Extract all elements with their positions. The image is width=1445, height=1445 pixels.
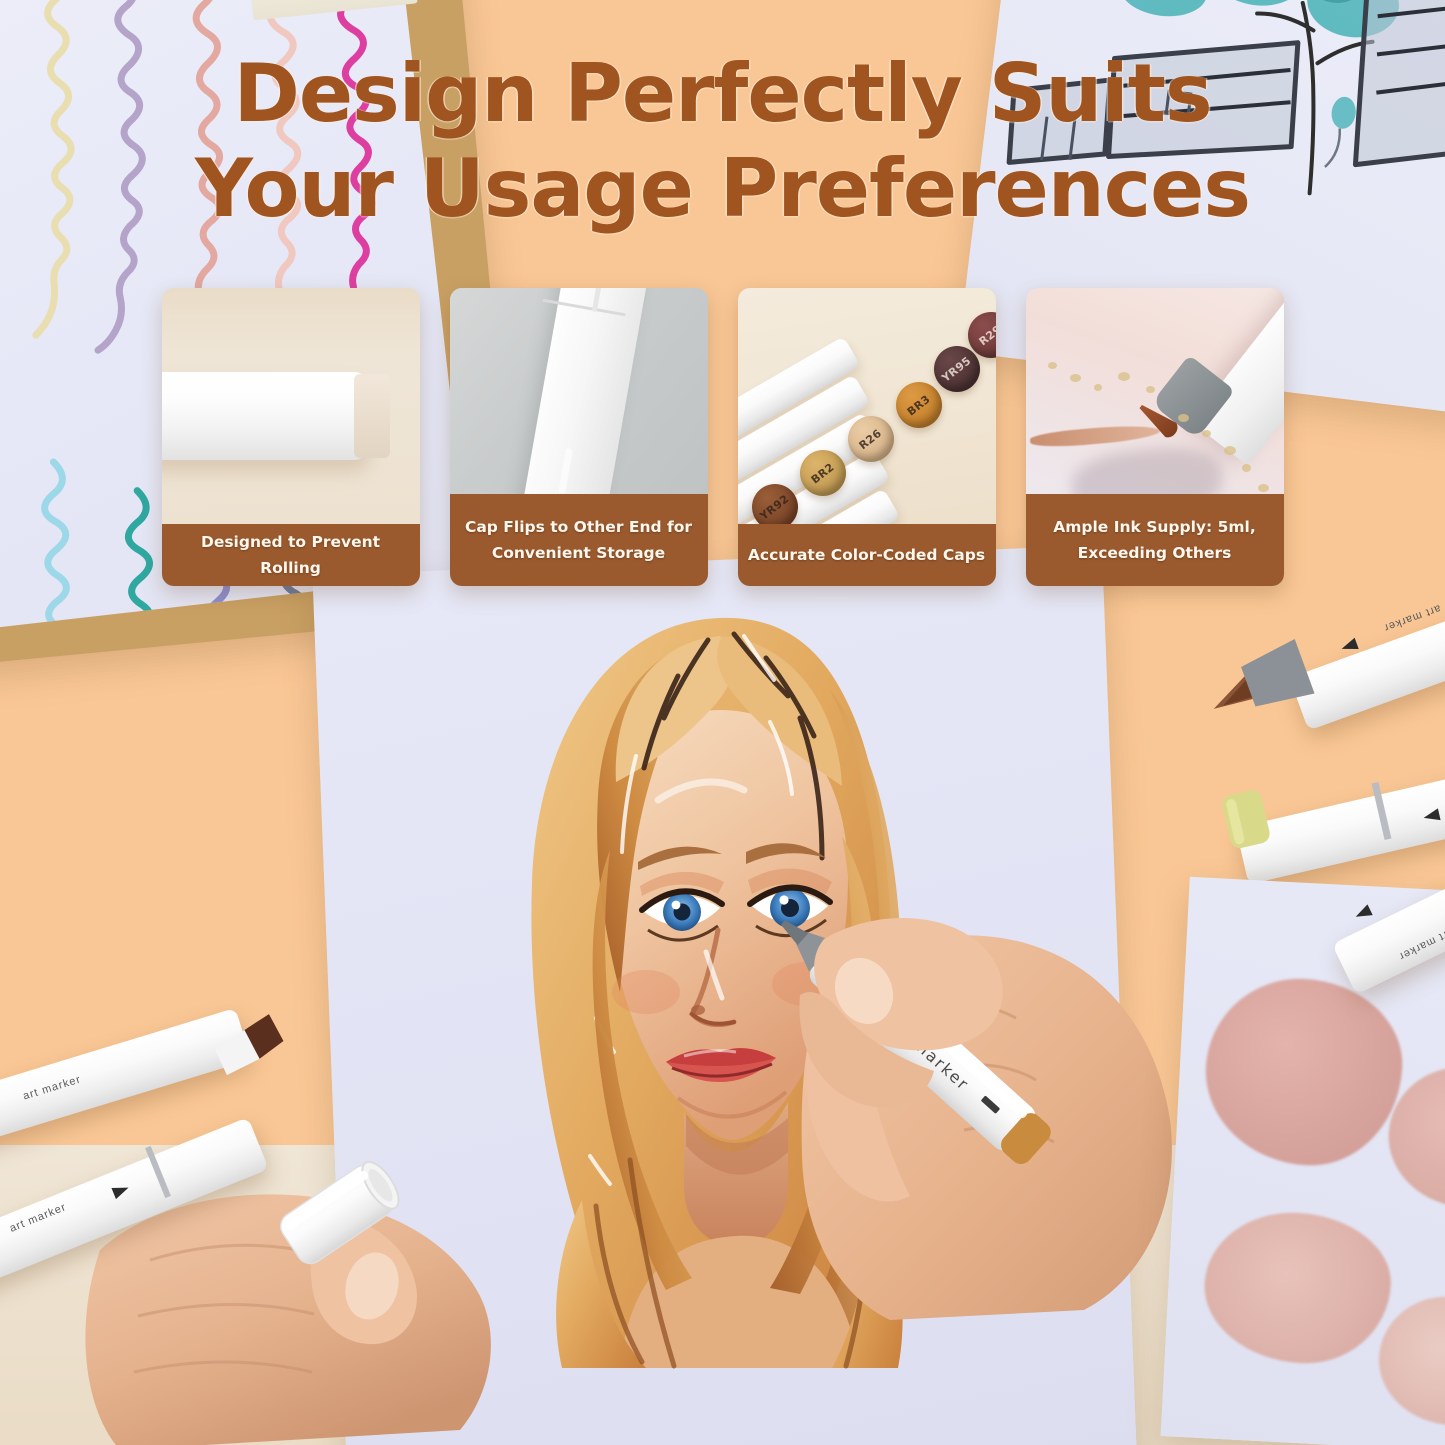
cap-br2: BR2	[800, 450, 846, 496]
card-label-line-2: Convenient Storage	[492, 544, 665, 562]
cap-r26: R26	[848, 416, 894, 462]
feature-card-cap-flip[interactable]: Cap Flips to Other End for Convenient St…	[450, 288, 708, 586]
card-label-line-2: Exceeding Others	[1078, 544, 1232, 562]
marker-cap-photo	[354, 374, 390, 458]
cap-br3: BR3	[896, 382, 942, 428]
card-label-ample-ink: Ample Ink Supply: 5ml, Exceeding Others	[1026, 494, 1284, 586]
card-label-cap-flip: Cap Flips to Other End for Convenient St…	[450, 494, 708, 586]
card-label-prevent-rolling: Designed to Prevent Rolling	[162, 524, 420, 586]
marker-pen-photo	[516, 288, 651, 494]
card-photo-cap-flip	[450, 288, 708, 494]
card-label-line-1: Cap Flips to Other End for	[465, 518, 692, 536]
marker-right-yellow-cap	[1218, 784, 1277, 855]
right-hand-fingers-overlay	[760, 905, 1160, 1305]
feature-card-color-coded-caps[interactable]: YR92 BR2 R26 BR3 YR95 R29 Accurate Color…	[738, 288, 996, 586]
cap-yr92: YR92	[752, 484, 798, 524]
card-photo-ample-ink	[1026, 288, 1284, 494]
swatch-blob	[1201, 1208, 1395, 1368]
feature-card-ample-ink[interactable]: Ample Ink Supply: 5ml, Exceeding Others	[1026, 288, 1284, 586]
cap-yr95: YR95	[934, 346, 980, 392]
marker-barrel-photo	[162, 372, 370, 460]
card-label-color-coded-caps: Accurate Color-Coded Caps	[738, 524, 996, 586]
product-feature-graphic: art marker	[0, 0, 1445, 1445]
swatch-blob	[1201, 974, 1406, 1170]
card-photo-color-coded-caps: YR92 BR2 R26 BR3 YR95 R29	[738, 288, 996, 524]
marker-left-chisel-nib	[207, 996, 314, 1089]
swatch-blob	[1376, 1293, 1445, 1428]
feature-card-row: Designed to Prevent Rolling Cap Flips to…	[0, 288, 1445, 588]
feature-card-prevent-rolling[interactable]: Designed to Prevent Rolling	[162, 288, 420, 586]
card-label-line-1: Ample Ink Supply: 5ml,	[1053, 518, 1256, 536]
card-photo-prevent-rolling	[162, 288, 420, 524]
